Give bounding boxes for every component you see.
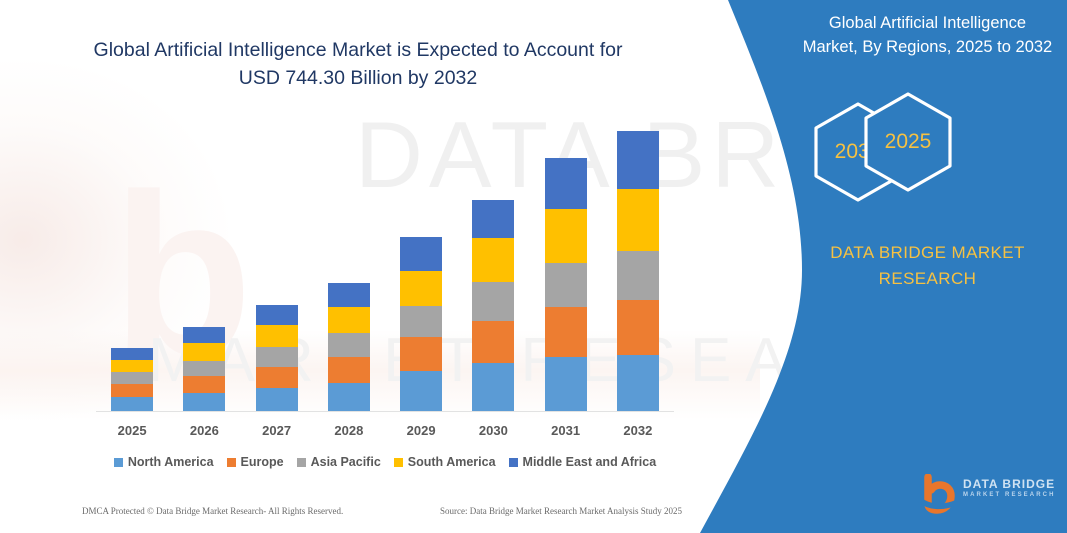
bar-segment[interactable] — [472, 282, 514, 321]
legend-swatch-icon — [509, 458, 518, 467]
bar-segment[interactable] — [472, 363, 514, 411]
bar-group — [96, 100, 674, 411]
x-axis-line — [96, 411, 674, 412]
bar-segment[interactable] — [472, 321, 514, 363]
x-axis-label: 2031 — [545, 423, 587, 438]
bar-segment[interactable] — [472, 238, 514, 282]
legend-label: Asia Pacific — [311, 455, 381, 469]
x-axis-label: 2027 — [256, 423, 298, 438]
panel-brand-name: DATA BRIDGE MARKET RESEARCH — [800, 240, 1055, 291]
legend-label: Middle East and Africa — [523, 455, 657, 469]
bar-segment[interactable] — [256, 367, 298, 388]
bar-segment[interactable] — [328, 333, 370, 358]
legend-item[interactable]: North America — [114, 455, 214, 469]
bar-segment[interactable] — [328, 307, 370, 333]
legend-label: North America — [128, 455, 214, 469]
infographic-canvas: b DATA BRIDGE MARKET RESEARCH Global Art… — [0, 0, 1067, 533]
bar-2026[interactable] — [183, 327, 225, 411]
logo-wordmark: DATA BRIDGE MARKET RESEARCH — [963, 478, 1056, 501]
bar-segment[interactable] — [256, 325, 298, 346]
legend-swatch-icon — [394, 458, 403, 467]
logo-mark-icon — [918, 474, 962, 514]
bar-2030[interactable] — [472, 200, 514, 411]
legend-label: South America — [408, 455, 496, 469]
right-brand-panel: Global Artificial Intelligence Market, B… — [660, 0, 1067, 533]
bar-2027[interactable] — [256, 305, 298, 411]
bar-segment[interactable] — [328, 357, 370, 383]
bar-segment[interactable] — [183, 327, 225, 343]
bar-segment[interactable] — [400, 337, 442, 371]
hexagon-group: 2032 2025 — [790, 92, 1060, 202]
bar-2031[interactable] — [545, 158, 587, 411]
bar-segment[interactable] — [111, 372, 153, 384]
bar-segment[interactable] — [111, 348, 153, 360]
bar-segment[interactable] — [617, 189, 659, 251]
bar-2029[interactable] — [400, 237, 442, 411]
svg-text:2025: 2025 — [885, 130, 932, 153]
x-axis-label: 2030 — [472, 423, 514, 438]
bar-segment[interactable] — [545, 209, 587, 263]
bar-segment[interactable] — [400, 271, 442, 306]
bar-segment[interactable] — [545, 307, 587, 357]
bar-segment[interactable] — [545, 158, 587, 209]
bar-segment[interactable] — [256, 347, 298, 367]
chart-title: Global Artificial Intelligence Market is… — [78, 36, 638, 93]
footer-copyright: DMCA Protected © Data Bridge Market Rese… — [82, 506, 343, 516]
bar-segment[interactable] — [617, 251, 659, 299]
chart-plot-area — [96, 100, 674, 412]
bar-2028[interactable] — [328, 283, 370, 411]
bar-segment[interactable] — [617, 355, 659, 411]
legend-item[interactable]: Asia Pacific — [297, 455, 381, 469]
company-logo: DATA BRIDGE MARKET RESEARCH — [918, 474, 1058, 514]
bar-segment[interactable] — [545, 263, 587, 307]
x-axis-label: 2032 — [617, 423, 659, 438]
x-axis-label: 2028 — [328, 423, 370, 438]
bar-segment[interactable] — [111, 360, 153, 373]
bar-segment[interactable] — [617, 300, 659, 356]
legend-swatch-icon — [114, 458, 123, 467]
logo-tagline: MARKET RESEARCH — [963, 491, 1056, 501]
bar-segment[interactable] — [256, 305, 298, 325]
chart-legend: North AmericaEuropeAsia PacificSouth Ame… — [96, 455, 674, 469]
bar-2032[interactable] — [617, 131, 659, 411]
logo-name: DATA BRIDGE — [963, 478, 1056, 491]
bar-segment[interactable] — [545, 357, 587, 411]
legend-swatch-icon — [297, 458, 306, 467]
legend-item[interactable]: Europe — [227, 455, 284, 469]
bar-segment[interactable] — [617, 131, 659, 189]
bar-segment[interactable] — [183, 376, 225, 393]
legend-swatch-icon — [227, 458, 236, 467]
footer-source: Source: Data Bridge Market Research Mark… — [440, 506, 682, 516]
bar-segment[interactable] — [183, 343, 225, 360]
bar-2025[interactable] — [111, 348, 153, 411]
x-axis-label: 2029 — [400, 423, 442, 438]
bar-segment[interactable] — [400, 237, 442, 270]
bar-segment[interactable] — [111, 397, 153, 411]
bar-segment[interactable] — [183, 361, 225, 376]
x-axis-label: 2025 — [111, 423, 153, 438]
x-axis-label: 2026 — [183, 423, 225, 438]
legend-item[interactable]: South America — [394, 455, 496, 469]
legend-item[interactable]: Middle East and Africa — [509, 455, 657, 469]
panel-title: Global Artificial Intelligence Market, B… — [800, 12, 1055, 60]
legend-label: Europe — [241, 455, 284, 469]
bar-segment[interactable] — [328, 283, 370, 307]
bar-segment[interactable] — [400, 371, 442, 411]
hexagon-2025-icon: 2025 — [866, 94, 950, 190]
bar-segment[interactable] — [183, 393, 225, 411]
bar-segment[interactable] — [328, 383, 370, 411]
bar-segment[interactable] — [400, 306, 442, 337]
bar-segment[interactable] — [111, 384, 153, 397]
footer: DMCA Protected © Data Bridge Market Rese… — [82, 506, 682, 516]
bar-segment[interactable] — [256, 388, 298, 411]
bar-segment[interactable] — [472, 200, 514, 239]
x-axis-labels: 20252026202720282029203020312032 — [96, 423, 674, 438]
